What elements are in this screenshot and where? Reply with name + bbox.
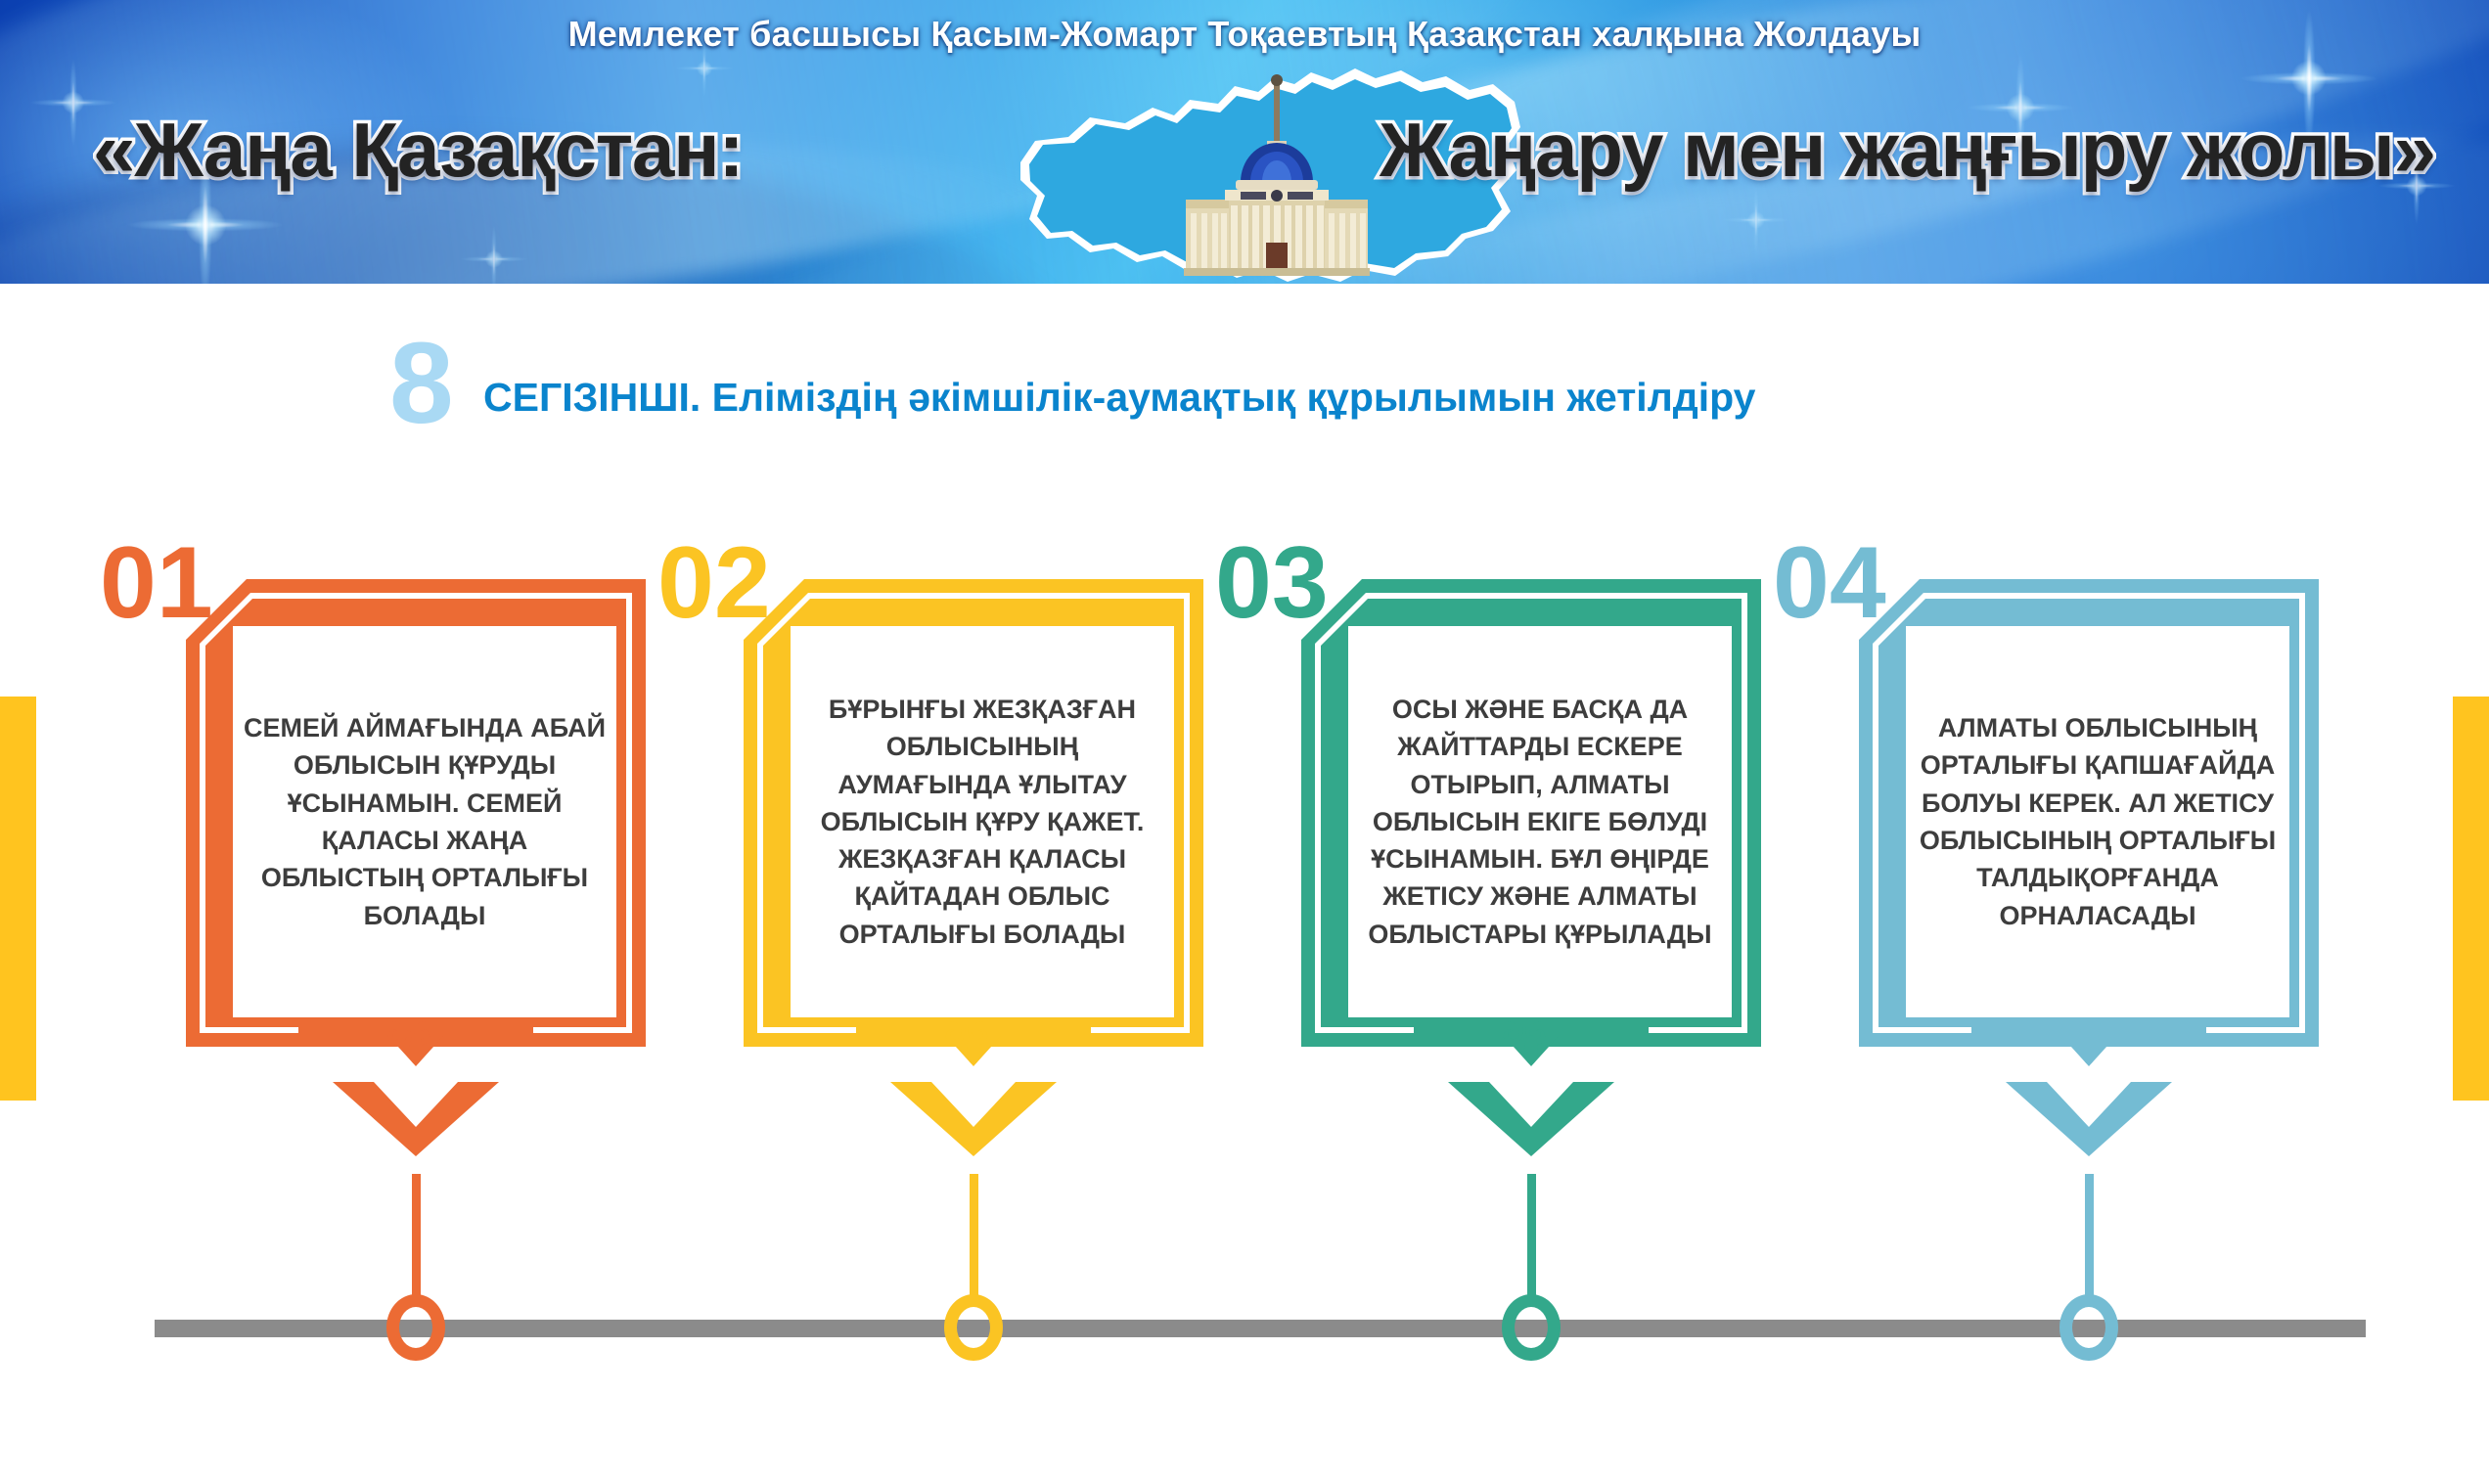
timeline-stem: [970, 1174, 978, 1301]
timeline-card[interactable]: 01 СЕМЕЙ АЙМАҒЫНДА АБАЙ ОБЛЫСЫН ҚҰРУДЫ Ұ…: [186, 579, 646, 1047]
address-subtitle: Мемлекет басшысы Қасым-Жомарт Тоқаевтың …: [0, 14, 2489, 55]
hero-title-right: Жаңару мен жаңғыру жолы»: [1380, 106, 2435, 195]
card-text: БҰРЫНҒЫ ЖЕЗҚАЗҒАН ОБЛЫСЫНЫҢ АУМАҒЫНДА ҰЛ…: [791, 691, 1174, 953]
timeline-node[interactable]: [1502, 1294, 1561, 1361]
hero-title-left: «Жаңа Қазақстан:: [93, 106, 744, 195]
kazakh-ornament-icon: [298, 1019, 533, 1082]
timeline-node[interactable]: [944, 1294, 1003, 1361]
timeline-stem: [2085, 1174, 2094, 1301]
right-accent-bar: [2453, 697, 2489, 1101]
timeline-stem: [412, 1174, 421, 1301]
kazakh-ornament-icon: [1971, 1019, 2206, 1082]
timeline-node[interactable]: [2059, 1294, 2118, 1361]
timeline-card[interactable]: 04 АЛМАТЫ ОБЛЫСЫНЫҢ ОРТАЛЫҒЫ ҚАПШАҒАЙДА …: [1859, 579, 2319, 1047]
chevron-down-icon: [1448, 1082, 1614, 1156]
chevron-down-icon: [890, 1082, 1057, 1156]
card-body: ОСЫ ЖӘНЕ БАСҚА ДА ЖАЙТТАРДЫ ЕСКЕРЕ ОТЫРЫ…: [1348, 626, 1732, 1017]
card-body: АЛМАТЫ ОБЛЫСЫНЫҢ ОРТАЛЫҒЫ ҚАПШАҒАЙДА БОЛ…: [1906, 626, 2289, 1017]
card-text: АЛМАТЫ ОБЛЫСЫНЫҢ ОРТАЛЫҒЫ ҚАПШАҒАЙДА БОЛ…: [1906, 709, 2289, 934]
section-title-label: СЕГІЗІНШІ. Еліміздің әкімшілік-аумақтық …: [483, 375, 1755, 421]
left-accent-bar: [0, 697, 36, 1101]
header-banner: Мемлекет басшысы Қасым-Жомарт Тоқаевтың …: [0, 0, 2489, 284]
timeline-card[interactable]: 03 ОСЫ ЖӘНЕ БАСҚА ДА ЖАЙТТАРДЫ ЕСКЕРЕ ОТ…: [1301, 579, 1761, 1047]
card-frame: АЛМАТЫ ОБЛЫСЫНЫҢ ОРТАЛЫҒЫ ҚАПШАҒАЙДА БОЛ…: [1859, 579, 2319, 1047]
timeline-card[interactable]: 02 БҰРЫНҒЫ ЖЕЗҚАЗҒАН ОБЛЫСЫНЫҢ АУМАҒЫНДА…: [744, 579, 1203, 1047]
section-number: 8: [389, 326, 454, 441]
card-body: СЕМЕЙ АЙМАҒЫНДА АБАЙ ОБЛЫСЫН ҚҰРУДЫ ҰСЫН…: [233, 626, 616, 1017]
kazakh-ornament-icon: [1414, 1019, 1649, 1082]
card-body: БҰРЫНҒЫ ЖЕЗҚАЗҒАН ОБЛЫСЫНЫҢ АУМАҒЫНДА ҰЛ…: [791, 626, 1174, 1017]
card-text: СЕМЕЙ АЙМАҒЫНДА АБАЙ ОБЛЫСЫН ҚҰРУДЫ ҰСЫН…: [233, 709, 616, 934]
card-frame: ОСЫ ЖӘНЕ БАСҚА ДА ЖАЙТТАРДЫ ЕСКЕРЕ ОТЫРЫ…: [1301, 579, 1761, 1047]
akorda-palace-icon: [1164, 67, 1389, 284]
chevron-down-icon: [333, 1082, 499, 1156]
card-frame: БҰРЫНҒЫ ЖЕЗҚАЗҒАН ОБЛЫСЫНЫҢ АУМАҒЫНДА ҰЛ…: [744, 579, 1203, 1047]
timeline-stem: [1527, 1174, 1536, 1301]
chevron-down-icon: [2006, 1082, 2172, 1156]
card-frame: СЕМЕЙ АЙМАҒЫНДА АБАЙ ОБЛЫСЫН ҚҰРУДЫ ҰСЫН…: [186, 579, 646, 1047]
timeline-axis: [155, 1320, 2366, 1337]
infographic-page: Мемлекет басшысы Қасым-Жомарт Тоқаевтың …: [0, 0, 2489, 1484]
kazakh-ornament-icon: [856, 1019, 1091, 1082]
card-text: ОСЫ ЖӘНЕ БАСҚА ДА ЖАЙТТАРДЫ ЕСКЕРЕ ОТЫРЫ…: [1348, 691, 1732, 953]
timeline-node[interactable]: [386, 1294, 445, 1361]
